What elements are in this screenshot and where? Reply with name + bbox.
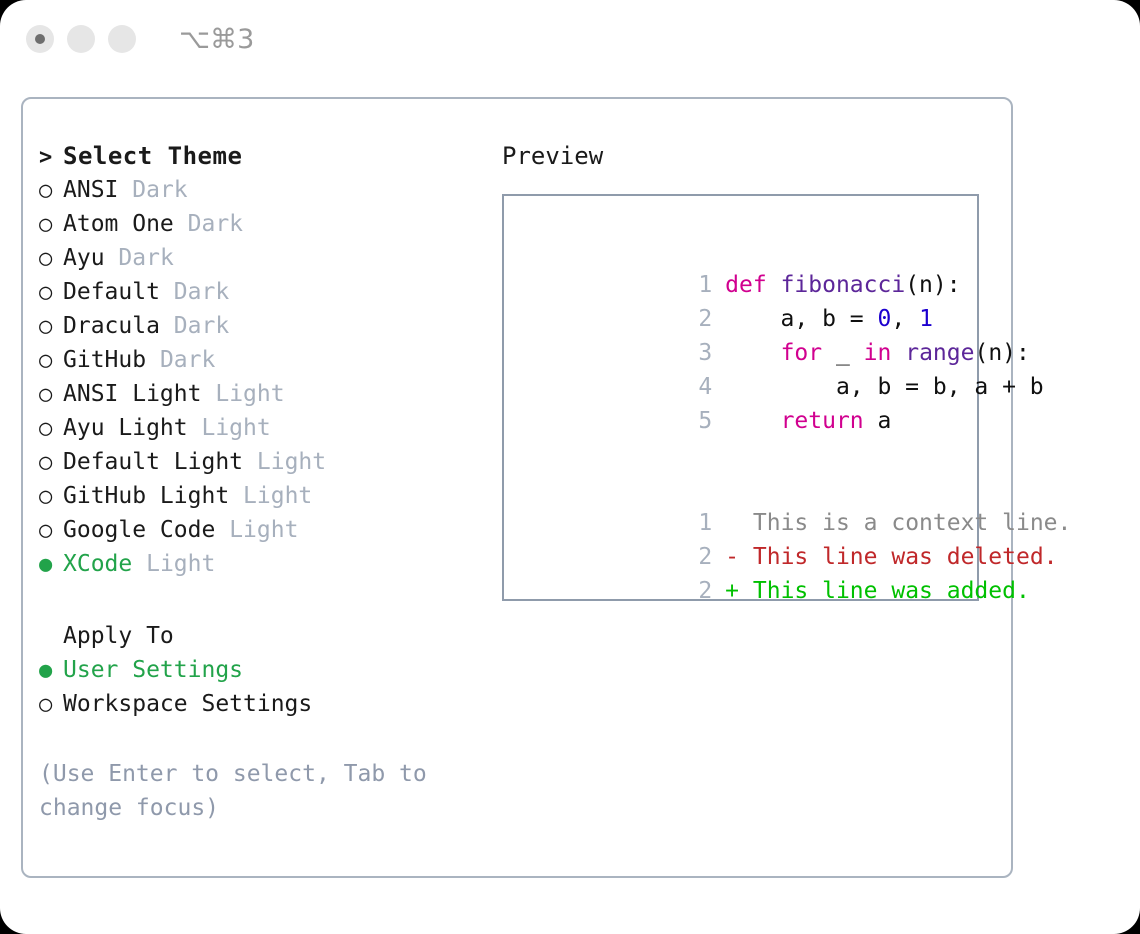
- code-token: a, b =: [725, 306, 877, 332]
- line-number: 2: [688, 540, 712, 574]
- code-token: range: [905, 340, 974, 366]
- app-window: ⌥⌘3 >Select Theme ○ANSI Dark ○Atom One D…: [0, 0, 1140, 934]
- select-theme-header-label: Select Theme: [63, 142, 242, 170]
- apply-to-label: User Settings: [63, 657, 243, 683]
- code-token: fibonacci: [781, 272, 906, 298]
- window-controls: [26, 25, 149, 53]
- radio-unselected-icon: ○: [39, 688, 63, 722]
- diff-sign: -: [725, 544, 739, 570]
- radio-selected-icon: ●: [39, 548, 63, 582]
- diff-text: This is a context line.: [739, 510, 1071, 536]
- code-token: def: [725, 272, 780, 298]
- line-number: 5: [688, 404, 712, 438]
- theme-name: ANSI Light: [63, 381, 201, 407]
- radio-unselected-icon: ○: [39, 514, 63, 548]
- radio-unselected-icon: ○: [39, 174, 63, 208]
- radio-unselected-icon: ○: [39, 344, 63, 378]
- theme-name: Default Light: [63, 449, 243, 475]
- theme-option-github-light[interactable]: ○GitHub Light Light: [39, 479, 469, 513]
- theme-variant: Dark: [160, 347, 215, 373]
- diff-text: This line was deleted.: [739, 544, 1058, 570]
- theme-name: Google Code: [63, 517, 215, 543]
- code-token: [725, 340, 780, 366]
- select-theme-header: >Select Theme: [39, 139, 469, 173]
- code-token: _: [822, 340, 864, 366]
- code-token: 0: [878, 306, 892, 332]
- radio-unselected-icon: ○: [39, 276, 63, 310]
- theme-variant: Dark: [132, 177, 187, 203]
- theme-option-default-dark[interactable]: ○Default Dark: [39, 275, 469, 309]
- theme-option-google-code[interactable]: ○Google Code Light: [39, 513, 469, 547]
- line-number: 1: [688, 506, 712, 540]
- theme-option-ansi-light[interactable]: ○ANSI Light Light: [39, 377, 469, 411]
- radio-unselected-icon: ○: [39, 378, 63, 412]
- section-spacer: [39, 581, 469, 619]
- code-token: ,: [891, 306, 919, 332]
- theme-variant: Dark: [174, 313, 229, 339]
- keyboard-hint-text: (Use Enter to select, Tab to change focu…: [39, 757, 439, 825]
- theme-variant: Dark: [188, 211, 243, 237]
- radio-unselected-icon: ○: [39, 310, 63, 344]
- theme-variant: Dark: [174, 279, 229, 305]
- theme-variant: Light: [229, 517, 298, 543]
- code-token: return: [781, 408, 864, 434]
- theme-variant: Light: [257, 449, 326, 475]
- code-token: a: [864, 408, 892, 434]
- theme-name: XCode: [63, 551, 132, 577]
- code-token: 1: [919, 306, 933, 332]
- theme-name: Ayu Light: [63, 415, 188, 441]
- keyboard-shortcut-label: ⌥⌘3: [179, 24, 254, 55]
- diff-text: This line was added.: [739, 578, 1030, 604]
- theme-variant: Light: [201, 415, 270, 441]
- line-number: 3: [688, 336, 712, 370]
- apply-to-option-user-settings[interactable]: ●User Settings: [39, 653, 469, 687]
- theme-name: ANSI: [63, 177, 118, 203]
- theme-name: GitHub: [63, 347, 146, 373]
- theme-option-ayu-light[interactable]: ○Ayu Light Light: [39, 411, 469, 445]
- code-line: 1def fibonacci(n):: [504, 234, 977, 268]
- prompt-caret-icon: >: [39, 141, 63, 175]
- code-token: (n):: [974, 340, 1029, 366]
- theme-option-github-dark[interactable]: ○GitHub Dark: [39, 343, 469, 377]
- window-dot-active[interactable]: [26, 25, 54, 53]
- theme-variant: Dark: [118, 245, 173, 271]
- line-number: 2: [688, 302, 712, 336]
- code-token: for: [781, 340, 823, 366]
- radio-unselected-icon: ○: [39, 208, 63, 242]
- window-dot-third[interactable]: [108, 25, 136, 53]
- theme-name: Dracula: [63, 313, 160, 339]
- radio-unselected-icon: ○: [39, 242, 63, 276]
- theme-option-atom-one-dark[interactable]: ○Atom One Dark: [39, 207, 469, 241]
- theme-name: Default: [63, 279, 160, 305]
- radio-unselected-icon: ○: [39, 412, 63, 446]
- window-dot-active-inner: [35, 34, 45, 44]
- line-number: 2: [688, 574, 712, 608]
- preview-code-box: 1def fibonacci(n): 2 a, b = 0, 1 3 for _…: [502, 194, 979, 601]
- theme-picker-column: >Select Theme ○ANSI Dark ○Atom One Dark …: [39, 139, 469, 825]
- theme-option-ayu-dark[interactable]: ○Ayu Dark: [39, 241, 469, 275]
- apply-to-option-workspace-settings[interactable]: ○Workspace Settings: [39, 687, 469, 721]
- theme-option-ansi-dark[interactable]: ○ANSI Dark: [39, 173, 469, 207]
- theme-option-default-light[interactable]: ○Default Light Light: [39, 445, 469, 479]
- diff-sign: +: [725, 578, 739, 604]
- title-bar: ⌥⌘3: [0, 0, 1140, 78]
- preview-title: Preview: [502, 139, 992, 173]
- radio-selected-icon: ●: [39, 654, 63, 688]
- apply-to-label: Workspace Settings: [63, 691, 312, 717]
- apply-to-header: Apply To: [39, 619, 469, 653]
- theme-name: GitHub Light: [63, 483, 229, 509]
- line-number: 1: [688, 268, 712, 302]
- theme-variant: Light: [243, 483, 312, 509]
- theme-name: Atom One: [63, 211, 174, 237]
- radio-unselected-icon: ○: [39, 480, 63, 514]
- main-panel: >Select Theme ○ANSI Dark ○Atom One Dark …: [21, 97, 1013, 878]
- window-dot-second[interactable]: [67, 25, 95, 53]
- line-number: 4: [688, 370, 712, 404]
- diff-line-context: 1 This is a context line.: [504, 472, 977, 506]
- preview-column: Preview 1def fibonacci(n): 2 a, b = 0, 1…: [502, 139, 992, 601]
- code-token: [725, 408, 780, 434]
- code-token: a, b = b, a + b: [725, 374, 1044, 400]
- code-token: (n):: [905, 272, 960, 298]
- code-token: [891, 340, 905, 366]
- radio-unselected-icon: ○: [39, 446, 63, 480]
- theme-variant: Light: [215, 381, 284, 407]
- code-token: in: [864, 340, 892, 366]
- theme-option-xcode[interactable]: ●XCode Light: [39, 547, 469, 581]
- theme-name: Ayu: [63, 245, 105, 271]
- theme-variant: Light: [146, 551, 215, 577]
- theme-option-dracula-dark[interactable]: ○Dracula Dark: [39, 309, 469, 343]
- diff-sign: [725, 510, 739, 536]
